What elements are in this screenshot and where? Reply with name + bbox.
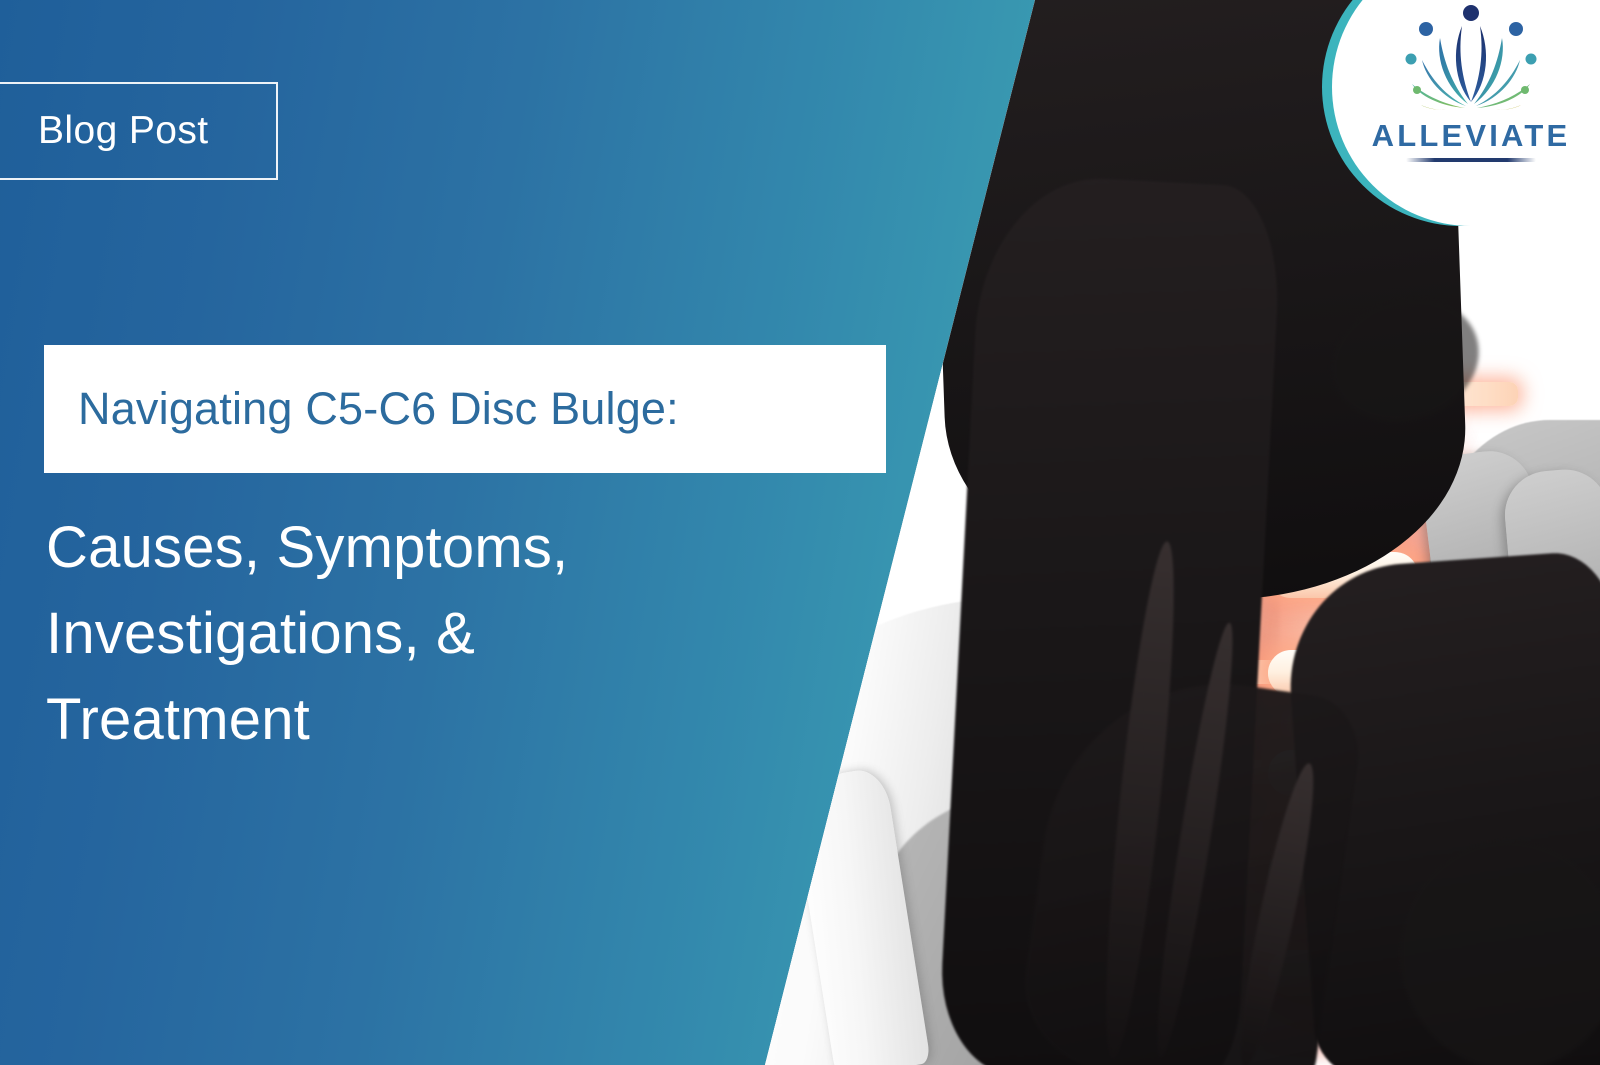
- title-bar: Navigating C5-C6 Disc Bulge:: [44, 345, 886, 473]
- subtitle-line-3: Treatment: [46, 677, 806, 763]
- subtitle-block: Causes, Symptoms, Investigations, & Trea…: [46, 505, 806, 763]
- subtitle-line-2: Investigations, &: [46, 591, 806, 677]
- page-title: Navigating C5-C6 Disc Bulge:: [44, 383, 679, 435]
- blog-post-banner: Blog Post Navigating C5-C6 Disc Bulge: C…: [0, 0, 1600, 1065]
- logo-underline: [1406, 158, 1536, 162]
- logo-content: ALLEVIATE: [1332, 0, 1600, 226]
- blog-post-badge: Blog Post: [0, 82, 278, 180]
- logo-badge: ALLEVIATE: [1322, 0, 1600, 226]
- alleviate-figure-emblem-icon: [1396, 4, 1546, 116]
- blog-post-badge-label: Blog Post: [0, 109, 209, 153]
- logo-wordmark: ALLEVIATE: [1332, 118, 1600, 154]
- subtitle-line-1: Causes, Symptoms,: [46, 505, 806, 591]
